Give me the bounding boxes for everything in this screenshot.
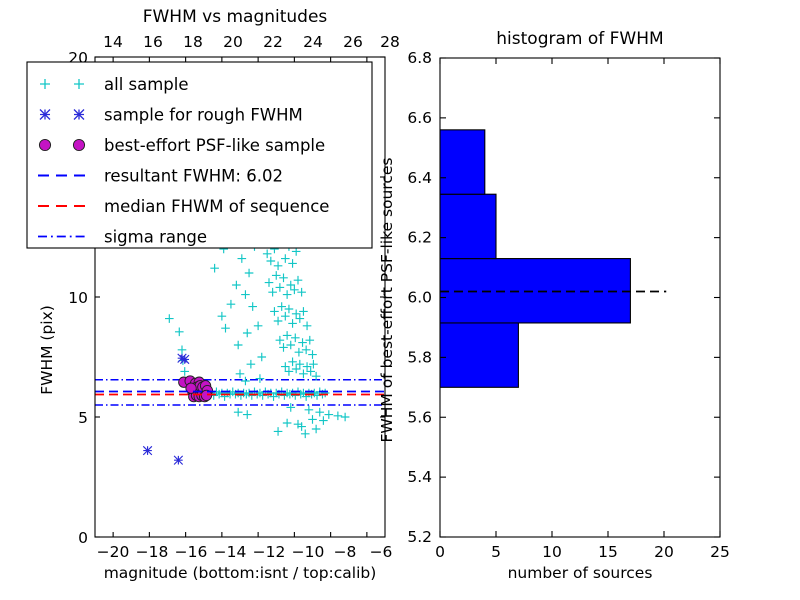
histogram-bar	[440, 130, 485, 194]
tick-bottom-1: −18	[136, 543, 169, 561]
circle-icon	[73, 139, 84, 150]
tick-top-0: 14	[103, 33, 123, 51]
ytick-label: 6.4	[407, 169, 432, 187]
tick-left-0: 0	[78, 529, 88, 547]
left-panel-ylabel: FWHM (pix)	[38, 305, 56, 395]
legend[interactable]: all samplesample for rough FWHMbest-effo…	[27, 62, 372, 248]
legend-item-label: best-effort PSF-like sample	[104, 136, 325, 155]
tick-bottom-6: −8	[334, 543, 357, 561]
left-panel-bottom-ticklabels: −20 −18 −16 −14 −12 −10 −8 −6	[97, 543, 393, 561]
right-panel-title: histogram of FWHM	[496, 29, 663, 49]
ytick-label: 6.6	[407, 109, 432, 127]
tick-top-1: 16	[143, 33, 163, 51]
tick-top-7: 28	[380, 33, 400, 51]
xtick-label: 20	[654, 543, 674, 561]
tick-bottom-2: −16	[175, 543, 208, 561]
legend-item-label: median FHWM of sequence	[104, 197, 329, 216]
legend-item-label: all sample	[104, 75, 189, 94]
tick-top-4: 22	[263, 33, 283, 51]
legend-item-label: sigma range	[104, 228, 207, 247]
histogram-bar	[440, 323, 518, 387]
ytick-label: 6.8	[407, 49, 432, 67]
ytick-label: 6.0	[407, 289, 432, 307]
tick-top-3: 20	[223, 33, 243, 51]
legend-box	[27, 62, 372, 248]
xtick-label: 5	[491, 543, 501, 561]
legend-item-label: sample for rough FWHM	[104, 106, 303, 125]
histogram-bar	[440, 194, 496, 258]
tick-bottom-5: −10	[292, 543, 325, 561]
tick-bottom-0: −20	[97, 543, 130, 561]
xtick-label: 10	[542, 543, 562, 561]
ytick-label: 5.4	[407, 468, 432, 486]
ytick-label: 5.2	[407, 528, 432, 546]
legend-item-label: resultant FWHM: 6.02	[104, 167, 283, 186]
tick-top-2: 18	[183, 33, 203, 51]
tick-bottom-4: −12	[253, 543, 286, 561]
tick-bottom-7: −6	[370, 543, 393, 561]
xtick-label: 15	[598, 543, 618, 561]
tick-top-6: 26	[343, 33, 363, 51]
tick-left-5: 5	[78, 409, 88, 427]
xtick-label: 25	[710, 543, 730, 561]
left-panel-xlabel: magnitude (bottom:isnt / top:calib)	[104, 564, 377, 582]
tick-left-10: 10	[68, 289, 88, 307]
left-panel-title: FWHM vs magnitudes	[143, 7, 328, 27]
xtick-label: 0	[435, 543, 445, 561]
right-panel-ylabel: FWHM of best-effort PSF-like sources	[378, 157, 396, 442]
ytick-label: 5.6	[407, 408, 432, 426]
circle-icon	[39, 139, 50, 150]
right-panel-xlabel: number of sources	[508, 564, 653, 582]
tick-bottom-3: −14	[214, 543, 247, 561]
right-panel-yticklabels: 5.25.45.65.86.06.26.46.66.8	[407, 49, 432, 546]
tick-top-5: 24	[303, 33, 323, 51]
matplotlib-figure: FWHM vs magnitudes 14 16 18 20 22 24 26 …	[0, 0, 800, 600]
figure-canvas: FWHM vs magnitudes 14 16 18 20 22 24 26 …	[0, 0, 800, 600]
ytick-label: 6.2	[407, 229, 432, 247]
ytick-label: 5.8	[407, 348, 432, 366]
